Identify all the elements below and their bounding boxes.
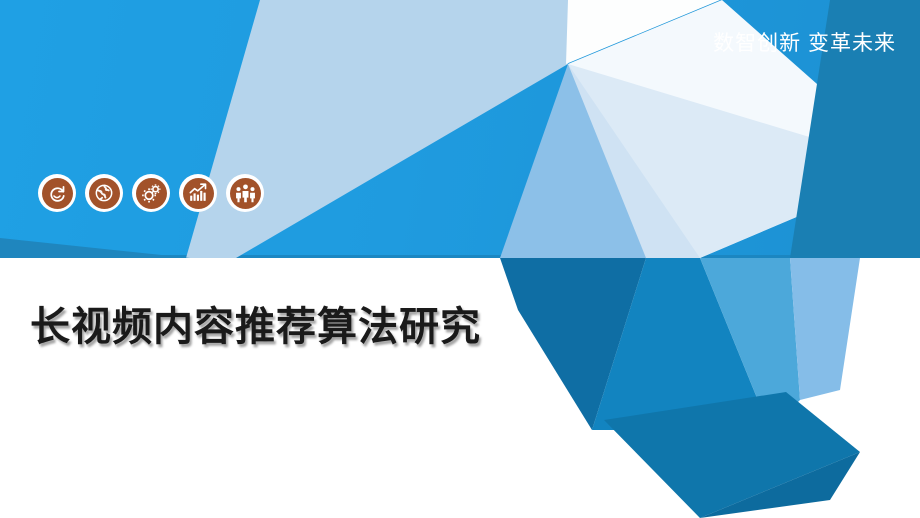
- tagline: 数智创新 变革未来: [713, 27, 896, 57]
- dark-teal-left-edge: [0, 238, 190, 258]
- refresh-arrow-icon[interactable]: [38, 174, 76, 212]
- polygon-artwork: [0, 0, 920, 518]
- people-group-icon-disc: [230, 178, 261, 209]
- people-group-icon[interactable]: [226, 174, 264, 212]
- refresh-arrow-icon-disc: [42, 178, 73, 209]
- icon-row: [38, 174, 264, 212]
- bar-chart-icon-disc: [183, 178, 214, 209]
- title-slide: 数智创新 变革未来: [0, 0, 920, 518]
- globe-icon-disc: [89, 178, 120, 209]
- globe-icon[interactable]: [85, 174, 123, 212]
- bar-chart-icon[interactable]: [179, 174, 217, 212]
- tail-pale-blue: [790, 258, 860, 400]
- gears-icon[interactable]: [132, 174, 170, 212]
- page-title: 长视频内容推荐算法研究: [30, 294, 481, 352]
- light-wedge-upper-left: [186, 0, 568, 258]
- gears-icon-disc: [136, 178, 167, 209]
